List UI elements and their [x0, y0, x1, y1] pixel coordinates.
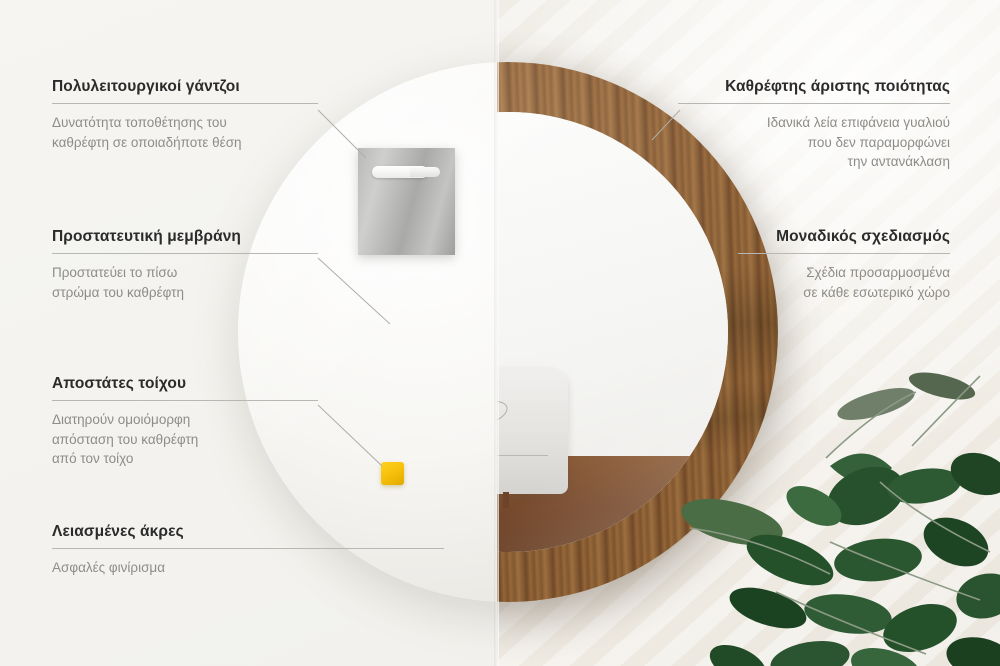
- callout-spacers-body: Διατηρούν ομοιόμορφη απόσταση του καθρέφ…: [52, 410, 318, 469]
- callout-membrane-body: Προστατεύει το πίσω στρώμα του καθρέφτη: [52, 263, 318, 302]
- callout-quality-mirror-body: Ιδανικά λεία επιφάνεια γυαλιού που δεν π…: [678, 113, 950, 172]
- callout-hooks-rule: [52, 103, 318, 104]
- panel-split-edge: [494, 0, 499, 666]
- callout-edges-title: Λειασμένες άκρες: [52, 523, 444, 541]
- callout-unique-design-title: Μοναδικός σχεδιασμός: [738, 228, 950, 246]
- callout-quality-mirror: Καθρέφτης άριστης ποιότητας Ιδανικά λεία…: [678, 78, 950, 172]
- callout-membrane: Προστατευτική μεμβράνη Προστατεύει το πί…: [52, 228, 318, 302]
- callout-quality-mirror-rule: [678, 103, 950, 104]
- callout-unique-design-rule: [738, 253, 950, 254]
- hook-part: [358, 148, 455, 255]
- callout-unique-design: Μοναδικός σχεδιασμός Σχέδια προσαρμοσμέν…: [738, 228, 950, 302]
- callout-hooks-body: Δυνατότητα τοποθέτησης του καθρέφτη σε ο…: [52, 113, 318, 152]
- callout-edges-rule: [52, 548, 444, 549]
- infographic-stage: Πολυλειτουργικοί γάντζοι Δυνατότητα τοπο…: [0, 0, 1000, 666]
- callout-hooks: Πολυλειτουργικοί γάντζοι Δυνατότητα τοπο…: [52, 78, 318, 152]
- callout-spacers: Αποστάτες τοίχου Διατηρούν ομοιόμορφη απ…: [52, 375, 318, 469]
- callout-membrane-rule: [52, 253, 318, 254]
- hook-keyhole-slot-secondary: [410, 167, 440, 177]
- callout-membrane-title: Προστατευτική μεμβράνη: [52, 228, 318, 246]
- callout-spacers-rule: [52, 400, 318, 401]
- spacer-part: [381, 462, 404, 485]
- callout-unique-design-body: Σχέδια προσαρμοσμένα σε κάθε εσωτερικό χ…: [738, 263, 950, 302]
- callout-edges: Λειασμένες άκρες Ασφαλές φινίρισμα: [52, 523, 444, 578]
- foliage-decoration: [680, 346, 1000, 666]
- callout-quality-mirror-title: Καθρέφτης άριστης ποιότητας: [678, 78, 950, 96]
- callout-edges-body: Ασφαλές φινίρισμα: [52, 558, 444, 578]
- callout-hooks-title: Πολυλειτουργικοί γάντζοι: [52, 78, 318, 96]
- callout-spacers-title: Αποστάτες τοίχου: [52, 375, 318, 393]
